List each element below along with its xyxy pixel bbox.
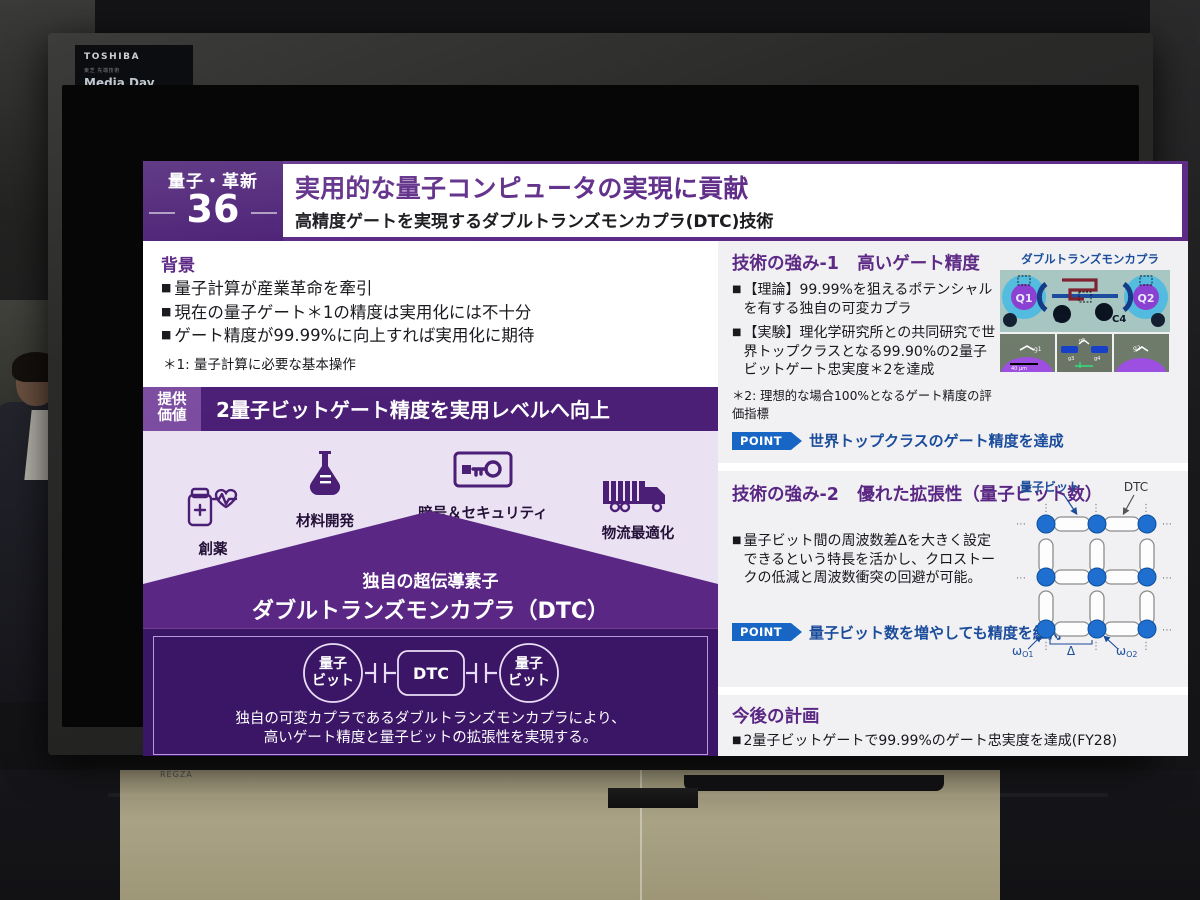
dtc-coupling-diagram: 量子 ビット DTC 量子 ビット (154, 641, 707, 705)
bullet-square-icon: ■ (161, 326, 171, 347)
bullet-square-icon: ■ (161, 303, 171, 324)
value-item-material-development: 材料開発 (265, 445, 385, 531)
micrograph-subpanel-g3g4g5: g5 g3 g4 (1057, 334, 1112, 372)
monitor-model-mark: REGZA (160, 770, 193, 779)
strength1-footnote: ＊2: 理想的な場合100%となるゲート精度の評価指標 (732, 386, 1000, 422)
section-divider (718, 687, 1188, 695)
background-section: 背景 ■ 量子計算が産業革命を牽引 ■ 現在の量子ゲート＊1の精度は実用化には不… (143, 241, 718, 379)
plan-section: 今後の計画 ■ 2量子ビットゲートで99.99%のゲート忠実度を達成(FY28) (718, 695, 1188, 756)
label-g3: g3 (1068, 356, 1074, 362)
value-item-label: 創薬 (165, 538, 261, 559)
presentation-slide: 量子・革新 36 実用的な量子コンピュータの実現に貢献 高精度ゲートを実現するダ… (143, 161, 1188, 756)
point-badge: POINT (732, 432, 791, 450)
page-title: 実用的な量子コンピュータの実現に貢献 (295, 169, 1182, 205)
point-badge: POINT (732, 623, 791, 641)
list-item: ■ 現在の量子ゲート＊1の精度は実用化には不十分 (161, 303, 718, 324)
card-key-icon (448, 441, 518, 495)
strength1-heading-text: 高いゲート精度 (857, 254, 980, 274)
dtc-diagram-panel: 量子 ビット DTC 量子 ビット 独自の可変カプラであるダブルトランズモンカプ (143, 629, 718, 756)
label-c3: C3 (1054, 314, 1068, 325)
bullet-square-icon: ■ (732, 532, 741, 588)
label-scale: 40 µm (1011, 366, 1027, 372)
background-heading: 背景 (161, 251, 718, 276)
chevron-line1: 独自の超伝導素子 (143, 567, 718, 592)
micrograph-subpanels: g1 40 µm (1000, 334, 1180, 372)
label-q2: Q2 (1137, 292, 1154, 305)
svg-text:⋮: ⋮ (1141, 641, 1151, 652)
label-g5: g5 (1079, 338, 1085, 344)
dtc-node-label: DTC (413, 664, 449, 683)
background-bullet-2: ゲート精度が99.99%に向上すれば実用化に期待 (174, 326, 534, 347)
value-item-logistics: 物流最適化 (573, 475, 703, 543)
plan-bullet-0: 2量子ビットゲートで99.99%のゲート忠実度を達成(FY28) (743, 732, 1117, 751)
point-text: 世界トップクラスのゲート精度を達成 (809, 430, 1064, 451)
value-tag: 提供 価値 (143, 387, 201, 431)
monitor-foot (684, 775, 944, 791)
slide-title-block: 実用的な量子コンピュータの実現に貢献 高精度ゲートを実現するダブルトランズモンカ… (283, 164, 1182, 237)
slide-number-badge: 量子・革新 36 (143, 161, 283, 241)
point-row-1: POINT 世界トップクラスのゲート精度を達成 (732, 430, 1178, 451)
qubit-right-line1: 量子 (515, 656, 543, 672)
scalability-lattice-figure: 量子ビット DTC (1006, 477, 1182, 657)
svg-text:⋮: ⋮ (1041, 503, 1051, 514)
svg-text:⋯: ⋯ (1162, 519, 1172, 530)
background-bullet-0: 量子計算が産業革命を牽引 (174, 279, 372, 300)
list-item: ■ 量子ビット間の周波数差Δを大きく設定できるという特長を活かし、クロストークの… (732, 532, 1002, 588)
list-item: ■ 【理論】99.99%を狙えるポテンシャルを有する独自の可変カプラ (732, 281, 1000, 318)
svg-text:⋯: ⋯ (1162, 625, 1172, 636)
section-divider (718, 463, 1188, 471)
label-c4: C4 (1112, 314, 1126, 325)
strength1-bullet-0: 【理論】99.99%を狙えるポテンシャルを有する独自の可変カプラ (743, 281, 1000, 318)
strength2-heading-prefix: 技術の強み-2 (732, 485, 839, 505)
background-bullet-1: 現在の量子ゲート＊1の精度は実用化には不十分 (174, 303, 531, 324)
dtc-diagram-frame: 量子 ビット DTC 量子 ビット 独自の可変カプラであるダブルトランズモンカプ (153, 636, 708, 755)
dtc-chip-micrograph: Q1 Q2 C3 C4 (1000, 270, 1170, 332)
strength2-bullet-0: 量子ビット間の周波数差Δを大きく設定できるという特長を活かし、クロストークの低減… (743, 532, 1002, 588)
value-item-drug-discovery: 創薬 (165, 479, 261, 559)
qubit-lattice-diagram: 量子ビット DTC (1006, 477, 1182, 657)
label-g1: g1 (1034, 346, 1042, 353)
flask-icon (295, 445, 355, 503)
svg-text:⋮: ⋮ (1141, 503, 1151, 514)
list-item: ■ 【実験】理化学研究所との共同研究で世界トップクラスとなる99.90%の2量子… (732, 324, 1000, 380)
chevron-line2: ダブルトランズモンカプラ（DTC） (143, 593, 718, 625)
svg-text:⋯: ⋯ (1016, 519, 1026, 530)
bullet-square-icon: ■ (732, 732, 741, 751)
qubit-right-line2: ビット (508, 673, 550, 689)
figure-caption: ダブルトランズモンカプラ (1000, 251, 1180, 267)
label-g2: g2 (1133, 345, 1141, 352)
list-item: ■ 2量子ビットゲートで99.99%のゲート忠実度を達成(FY28) (732, 732, 1178, 751)
page-subtitle: 高精度ゲートを実現するダブルトランズモンカプラ(DTC)技術 (295, 207, 1182, 232)
micrograph-subpanel-g1: g1 40 µm (1000, 334, 1055, 372)
bullet-square-icon: ■ (732, 281, 741, 318)
qubit-left-line1: 量子 (319, 656, 347, 672)
strength1-bullet-1: 【実験】理化学研究所との共同研究で世界トップクラスとなる99.90%の2量子ビッ… (743, 324, 1000, 380)
micrograph-subpanel-g2: g2 (1114, 334, 1169, 372)
pill-heart-icon (177, 479, 249, 531)
strength1-section: 技術の強み-1 高いゲート精度 ■ 【理論】99.99%を狙えるポテンシャルを有… (718, 241, 1188, 463)
list-item: ■ 量子計算が産業革命を牽引 (161, 279, 718, 300)
svg-text:⋯: ⋯ (1162, 573, 1172, 584)
value-tag-line1: 提供 (158, 393, 187, 409)
badge-number: 36 (143, 190, 283, 228)
strength2-section: 技術の強み-2 優れた拡張性（量子ビット数） ■ 量子ビット間の周波数差Δを大き… (718, 471, 1188, 687)
label-g4: g4 (1094, 356, 1100, 362)
strength1-heading-prefix: 技術の強み-1 (732, 254, 839, 274)
value-headline: 2量子ビットゲート精度を実用レベルへ向上 (201, 387, 718, 431)
svg-text:⋯: ⋯ (1016, 573, 1026, 584)
micrograph-main-image: Q1 Q2 C3 C4 (1000, 270, 1170, 332)
background-footnote: ＊1: 量子計算に必要な基本操作 (161, 353, 718, 373)
value-icons-area: 創薬 材料開発 (143, 431, 718, 629)
svg-text:⋮: ⋮ (1091, 503, 1101, 514)
value-item-label: 物流最適化 (573, 522, 703, 543)
list-item: ■ ゲート精度が99.99%に向上すれば実用化に期待 (161, 326, 718, 347)
label-q1: Q1 (1015, 292, 1032, 305)
lattice-label-qubit: 量子ビット (1020, 479, 1080, 494)
lattice-label-omega-q1: ωQ1 (1012, 644, 1033, 657)
micrograph-figure: ダブルトランズモンカプラ Q1 Q2 (1000, 251, 1180, 372)
slide-header: 量子・革新 36 実用的な量子コンピュータの実現に貢献 高精度ゲートを実現するダ… (143, 161, 1188, 241)
value-band: 提供 価値 2量子ビットゲート精度を実用レベルへ向上 (143, 387, 718, 431)
left-column: 背景 ■ 量子計算が産業革命を牽引 ■ 現在の量子ゲート＊1の精度は実用化には不… (143, 241, 718, 756)
display-monitor: TOSHIBA 東芝 先端技術 Media Day 2026 REGZA 量子・… (48, 33, 1153, 755)
brand-name: TOSHIBA (84, 52, 184, 62)
monitor-stand-neck (608, 788, 698, 808)
lattice-label-delta: Δ (1067, 644, 1076, 657)
bullet-square-icon: ■ (161, 279, 171, 300)
bullet-square-icon: ■ (732, 324, 741, 380)
badge-subtitle: 東芝 先端技術 (84, 67, 184, 74)
value-item-crypto-security: 暗号＆セキュリティ (393, 441, 573, 523)
right-column: 技術の強み-1 高いゲート精度 ■ 【理論】99.99%を狙えるポテンシャルを有… (718, 241, 1188, 756)
qubit-left-line2: ビット (312, 673, 354, 689)
dtc-caption: 独自の可変カプラであるダブルトランズモンカプラにより、 高いゲート精度と量子ビッ… (154, 710, 707, 748)
dtc-caption-line1: 独自の可変カプラであるダブルトランズモンカプラにより、 (154, 710, 707, 729)
lattice-label-dtc: DTC (1124, 480, 1148, 494)
dtc-caption-line2: 高いゲート精度と量子ビットの拡張性を実現する。 (154, 729, 707, 748)
value-tag-line2: 価値 (158, 409, 187, 425)
truck-icon (599, 475, 677, 515)
slide-body: 背景 ■ 量子計算が産業革命を牽引 ■ 現在の量子ゲート＊1の精度は実用化には不… (143, 241, 1188, 756)
plan-heading: 今後の計画 (732, 703, 1178, 728)
svg-text:⋯: ⋯ (1016, 625, 1026, 636)
lattice-label-omega-q2: ωQ2 (1116, 644, 1137, 657)
